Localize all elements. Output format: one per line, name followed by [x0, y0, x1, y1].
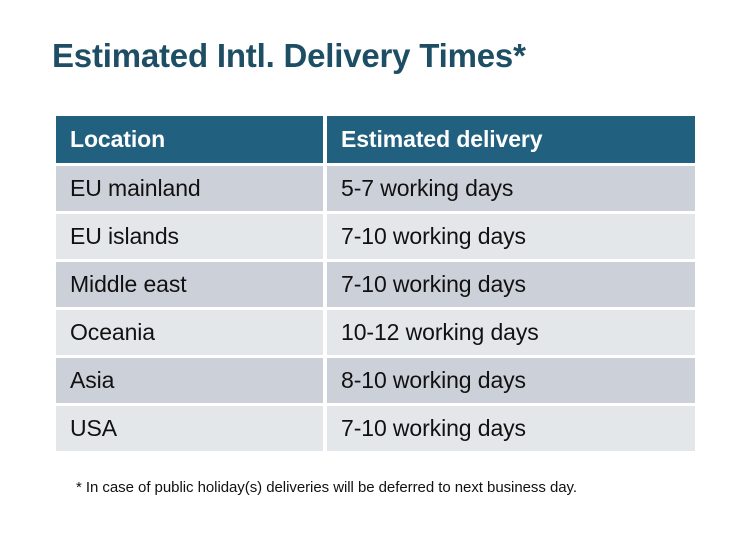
column-header-location: Location [56, 116, 323, 163]
cell-estimated-delivery: 7-10 working days [327, 214, 695, 259]
delivery-times-page: Estimated Intl. Delivery Times* Location… [0, 0, 745, 536]
page-title: Estimated Intl. Delivery Times* [52, 37, 526, 75]
cell-estimated-delivery: 5-7 working days [327, 166, 695, 211]
table-row: Asia 8-10 working days [56, 358, 695, 403]
table-row: USA 7-10 working days [56, 406, 695, 451]
table-body: EU mainland 5-7 working days EU islands … [56, 166, 695, 451]
delivery-times-table: Location Estimated delivery EU mainland … [52, 113, 699, 454]
cell-estimated-delivery: 7-10 working days [327, 406, 695, 451]
table-row: EU mainland 5-7 working days [56, 166, 695, 211]
cell-location: USA [56, 406, 323, 451]
column-header-estimated-delivery: Estimated delivery [327, 116, 695, 163]
cell-estimated-delivery: 7-10 working days [327, 262, 695, 307]
table-row: Oceania 10-12 working days [56, 310, 695, 355]
cell-location: EU islands [56, 214, 323, 259]
cell-estimated-delivery: 8-10 working days [327, 358, 695, 403]
cell-location: Oceania [56, 310, 323, 355]
table-row: EU islands 7-10 working days [56, 214, 695, 259]
cell-location: Asia [56, 358, 323, 403]
table-header-row: Location Estimated delivery [56, 116, 695, 163]
footnote: * In case of public holiday(s) deliverie… [76, 479, 577, 496]
cell-location: EU mainland [56, 166, 323, 211]
table-row: Middle east 7-10 working days [56, 262, 695, 307]
cell-estimated-delivery: 10-12 working days [327, 310, 695, 355]
table-header: Location Estimated delivery [56, 116, 695, 163]
cell-location: Middle east [56, 262, 323, 307]
